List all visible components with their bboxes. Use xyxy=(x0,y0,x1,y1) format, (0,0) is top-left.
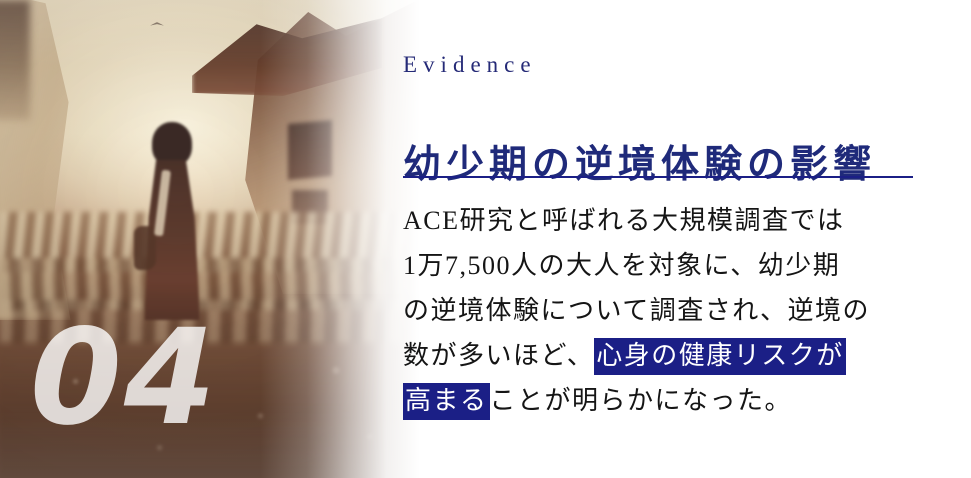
slide-canvas: 04 Evidence 幼少期の逆境体験の影響 ACE研究と呼ばれる大規模調査で… xyxy=(0,0,971,478)
highlight-phrase-2: 高まる xyxy=(403,383,490,420)
body-line-5-text: ことが明らかになった。 xyxy=(490,386,793,415)
body-copy: ACE研究と呼ばれる大規模調査では 1万7,500人の大人を対象に、幼少期 の逆… xyxy=(403,198,923,423)
body-line-3-text: の逆境体験について調査され、逆境の xyxy=(403,296,870,325)
title-divider xyxy=(403,176,913,178)
body-line-2: 1万7,500人の大人を対象に、幼少期 xyxy=(403,243,923,288)
body-line-1: ACE研究と呼ばれる大規模調査では xyxy=(403,198,923,243)
highlight-phrase-1: 心身の健康リスクが xyxy=(594,338,846,375)
body-line-2-text: 1万7,500人の大人を対象に、幼少期 xyxy=(403,251,840,280)
section-index-number: 04 xyxy=(30,312,218,444)
body-line-1-text: ACE研究と呼ばれる大規模調査では xyxy=(403,206,845,235)
eyebrow-label: Evidence xyxy=(403,52,537,78)
text-column: Evidence 幼少期の逆境体験の影響 ACE研究と呼ばれる大規模調査では 1… xyxy=(403,0,943,478)
page-title: 幼少期の逆境体験の影響 xyxy=(403,133,876,188)
body-line-4-text: 数が多いほど、 xyxy=(403,341,594,370)
body-line-4: 数が多いほど、心身の健康リスクが xyxy=(403,333,923,378)
body-line-3: の逆境体験について調査され、逆境の xyxy=(403,288,923,333)
body-line-5: 高まることが明らかになった。 xyxy=(403,378,923,423)
